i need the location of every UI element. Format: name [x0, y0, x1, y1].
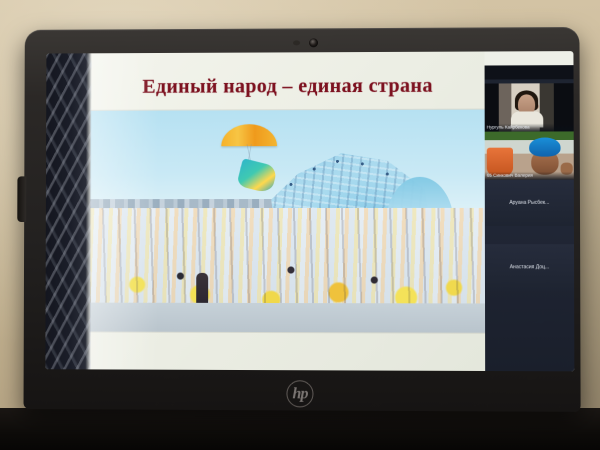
vc-panel-gap — [485, 226, 574, 244]
laptop-screen-bezel: Единый народ – единая страна — [45, 51, 574, 371]
participant-name-2: 65 Синкович Валерия — [485, 172, 574, 180]
participant-name-3: Аруана Рысбек... — [509, 200, 549, 206]
laptop-device: Единый народ – единая страна — [16, 21, 589, 424]
participant-name-1: Нургуль Кайрбекова — [485, 123, 574, 131]
room-scene: Единый народ – единая страна — [0, 0, 600, 450]
presentation-slide[interactable]: Единый народ – единая страна — [91, 51, 485, 370]
participant-2-cap — [529, 137, 560, 156]
screen-content: Единый народ – единая страна — [45, 51, 574, 371]
participant-name-4: Анастасия Доц... — [510, 264, 550, 270]
video-conference-panel[interactable]: Нургуль Кайрбекова 65 Синкович Валерия — [485, 65, 575, 371]
photo-ground — [90, 303, 486, 333]
participant-tile-1[interactable]: Нургуль Кайрбекова — [485, 83, 574, 131]
participant-tile-3[interactable]: Аруана Рысбек... — [485, 180, 574, 226]
participant-tile-4[interactable]: Анастасия Доц... — [485, 244, 574, 290]
participant-video-1[interactable]: Нургуль Кайрбекова — [485, 83, 574, 131]
microphone-pinhole-icon — [293, 40, 300, 45]
participant-tile-2[interactable]: 65 Синкович Валерия — [485, 131, 574, 179]
slide-title: Единый народ – единая страна — [142, 75, 433, 99]
laptop-lid: Единый народ – единая страна — [24, 27, 581, 412]
screen-reflection — [45, 53, 91, 369]
webcam-icon — [309, 38, 318, 47]
hp-logo: hp — [286, 380, 313, 407]
slide-photo: Вы вошли в сеть. Активация доступна сейч… — [90, 110, 486, 333]
vc-panel-header — [485, 65, 574, 83]
participant-video-2[interactable]: 65 Синкович Валерия — [485, 131, 574, 179]
